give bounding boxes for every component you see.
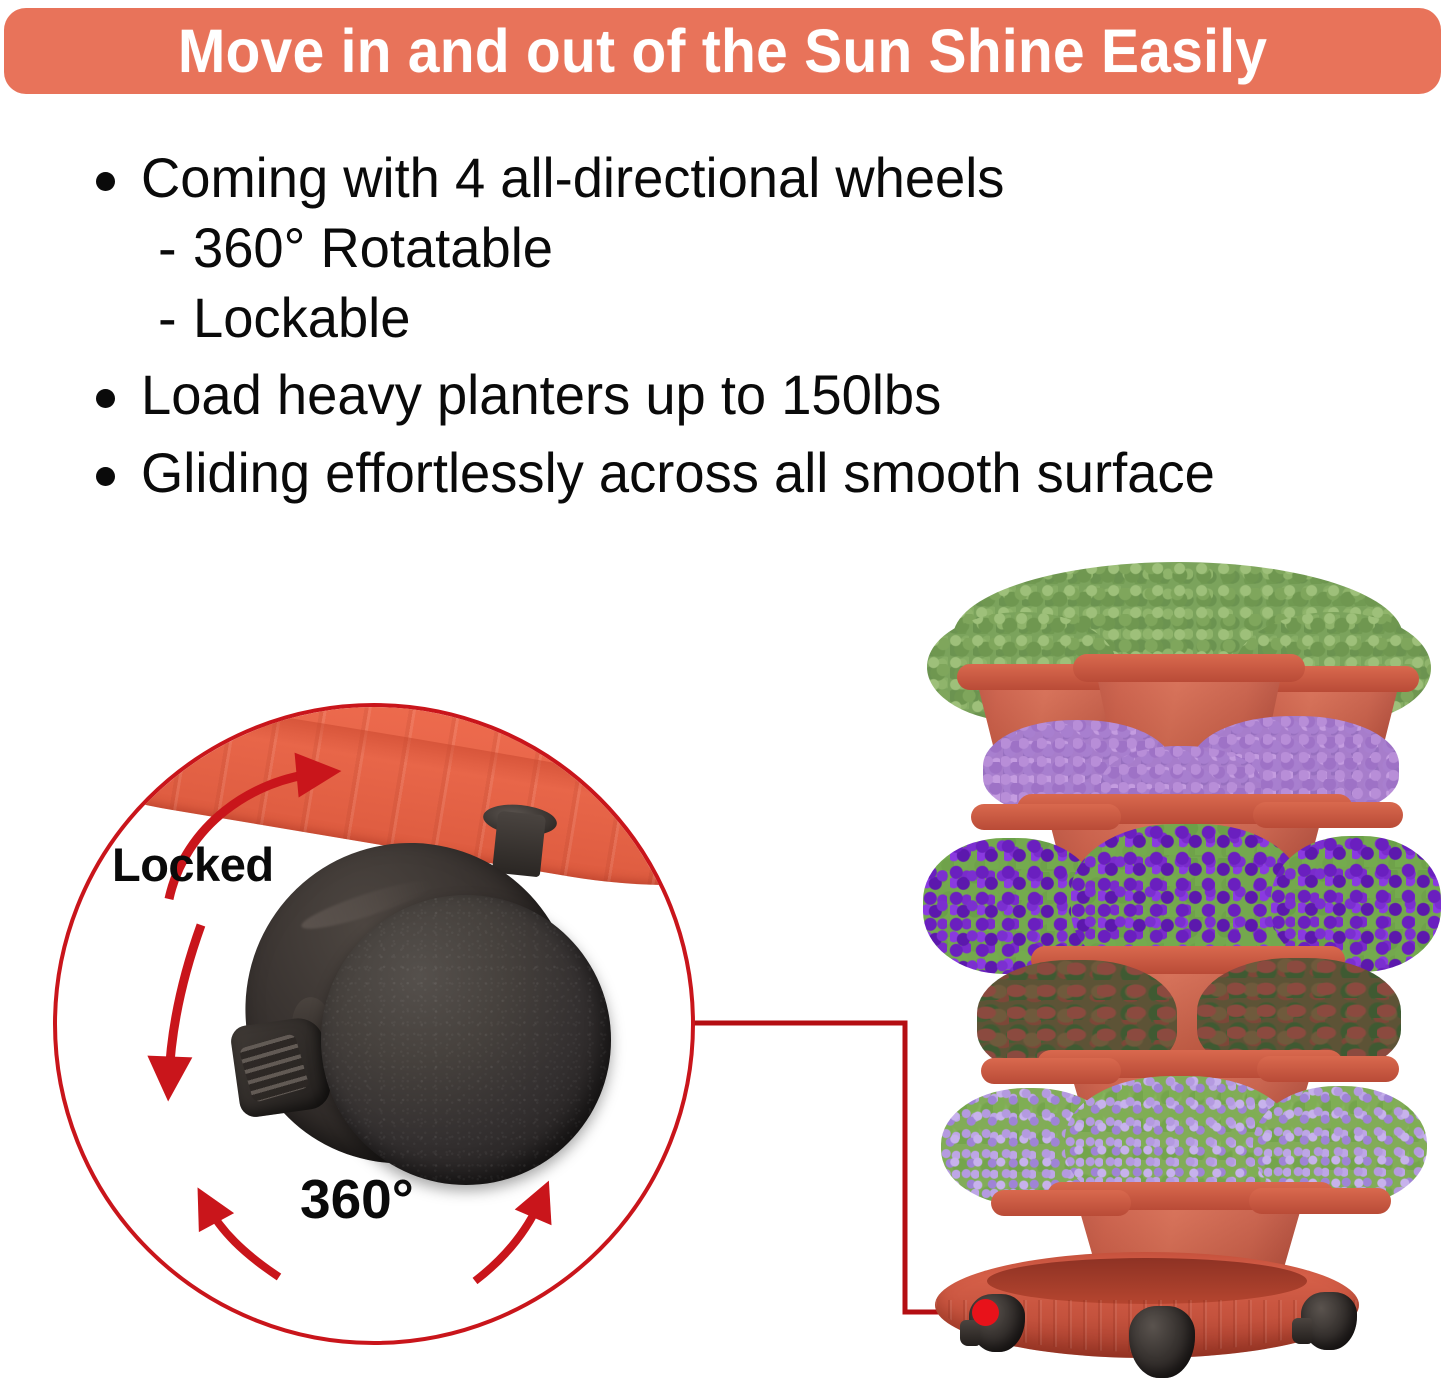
- feature-item: - 360° Rotatable: [96, 216, 1436, 280]
- locked-label: Locked: [112, 837, 274, 892]
- caster-brake-nub: [1292, 1318, 1312, 1344]
- tier-1-lip-center: [1073, 654, 1305, 682]
- rotation-label: 360°: [300, 1167, 414, 1231]
- callout-endpoint-dot: [972, 1299, 999, 1326]
- rolling-caddy-base: [935, 1252, 1359, 1358]
- dash-icon: -: [158, 216, 177, 280]
- feature-item: Load heavy planters up to 150lbs: [96, 363, 1436, 427]
- rotation-arrow-right: [475, 1199, 541, 1281]
- bullet-dot-icon: [96, 389, 115, 408]
- rotation-arrow-left: [207, 1205, 279, 1277]
- feature-text: Coming with 4 all-directional wheels: [141, 146, 1004, 210]
- feature-text: Gliding effortlessly across all smooth s…: [141, 441, 1215, 505]
- feature-item: Gliding effortlessly across all smooth s…: [96, 441, 1436, 505]
- caster-wheel-front: [1129, 1306, 1195, 1378]
- callout-arrows: [57, 707, 691, 1341]
- banner-title: Move in and out of the Sun Shine Easily: [178, 21, 1267, 82]
- dash-icon: -: [158, 286, 177, 350]
- bullet-dot-icon: [96, 172, 115, 191]
- feature-text: 360° Rotatable: [193, 216, 553, 280]
- planter-tower-product: [905, 560, 1445, 1392]
- feature-item: Coming with 4 all-directional wheels: [96, 146, 1436, 210]
- feature-item: - Lockable: [96, 286, 1436, 350]
- header-banner: Move in and out of the Sun Shine Easily: [4, 8, 1441, 94]
- tier-2-lip-right: [1253, 802, 1403, 828]
- feature-text: Lockable: [193, 286, 410, 350]
- caster-detail-callout: Locked 360°: [53, 703, 695, 1345]
- caddy-inner-well: [987, 1258, 1307, 1304]
- feature-text: Load heavy planters up to 150lbs: [141, 363, 941, 427]
- tier-2-lip-left: [971, 804, 1121, 830]
- bullet-dot-icon: [96, 467, 115, 486]
- caster-wheel-right: [1301, 1292, 1357, 1350]
- tier-5-lip-left: [991, 1190, 1131, 1216]
- locked-arrow-down: [169, 925, 201, 1079]
- caster-brake-nub: [960, 1320, 980, 1346]
- tier-5-lip-right: [1249, 1188, 1391, 1214]
- tier-4-lip-right: [1257, 1056, 1399, 1082]
- tier-4-lip-left: [981, 1058, 1121, 1084]
- feature-list: Coming with 4 all-directional wheels - 3…: [96, 146, 1436, 505]
